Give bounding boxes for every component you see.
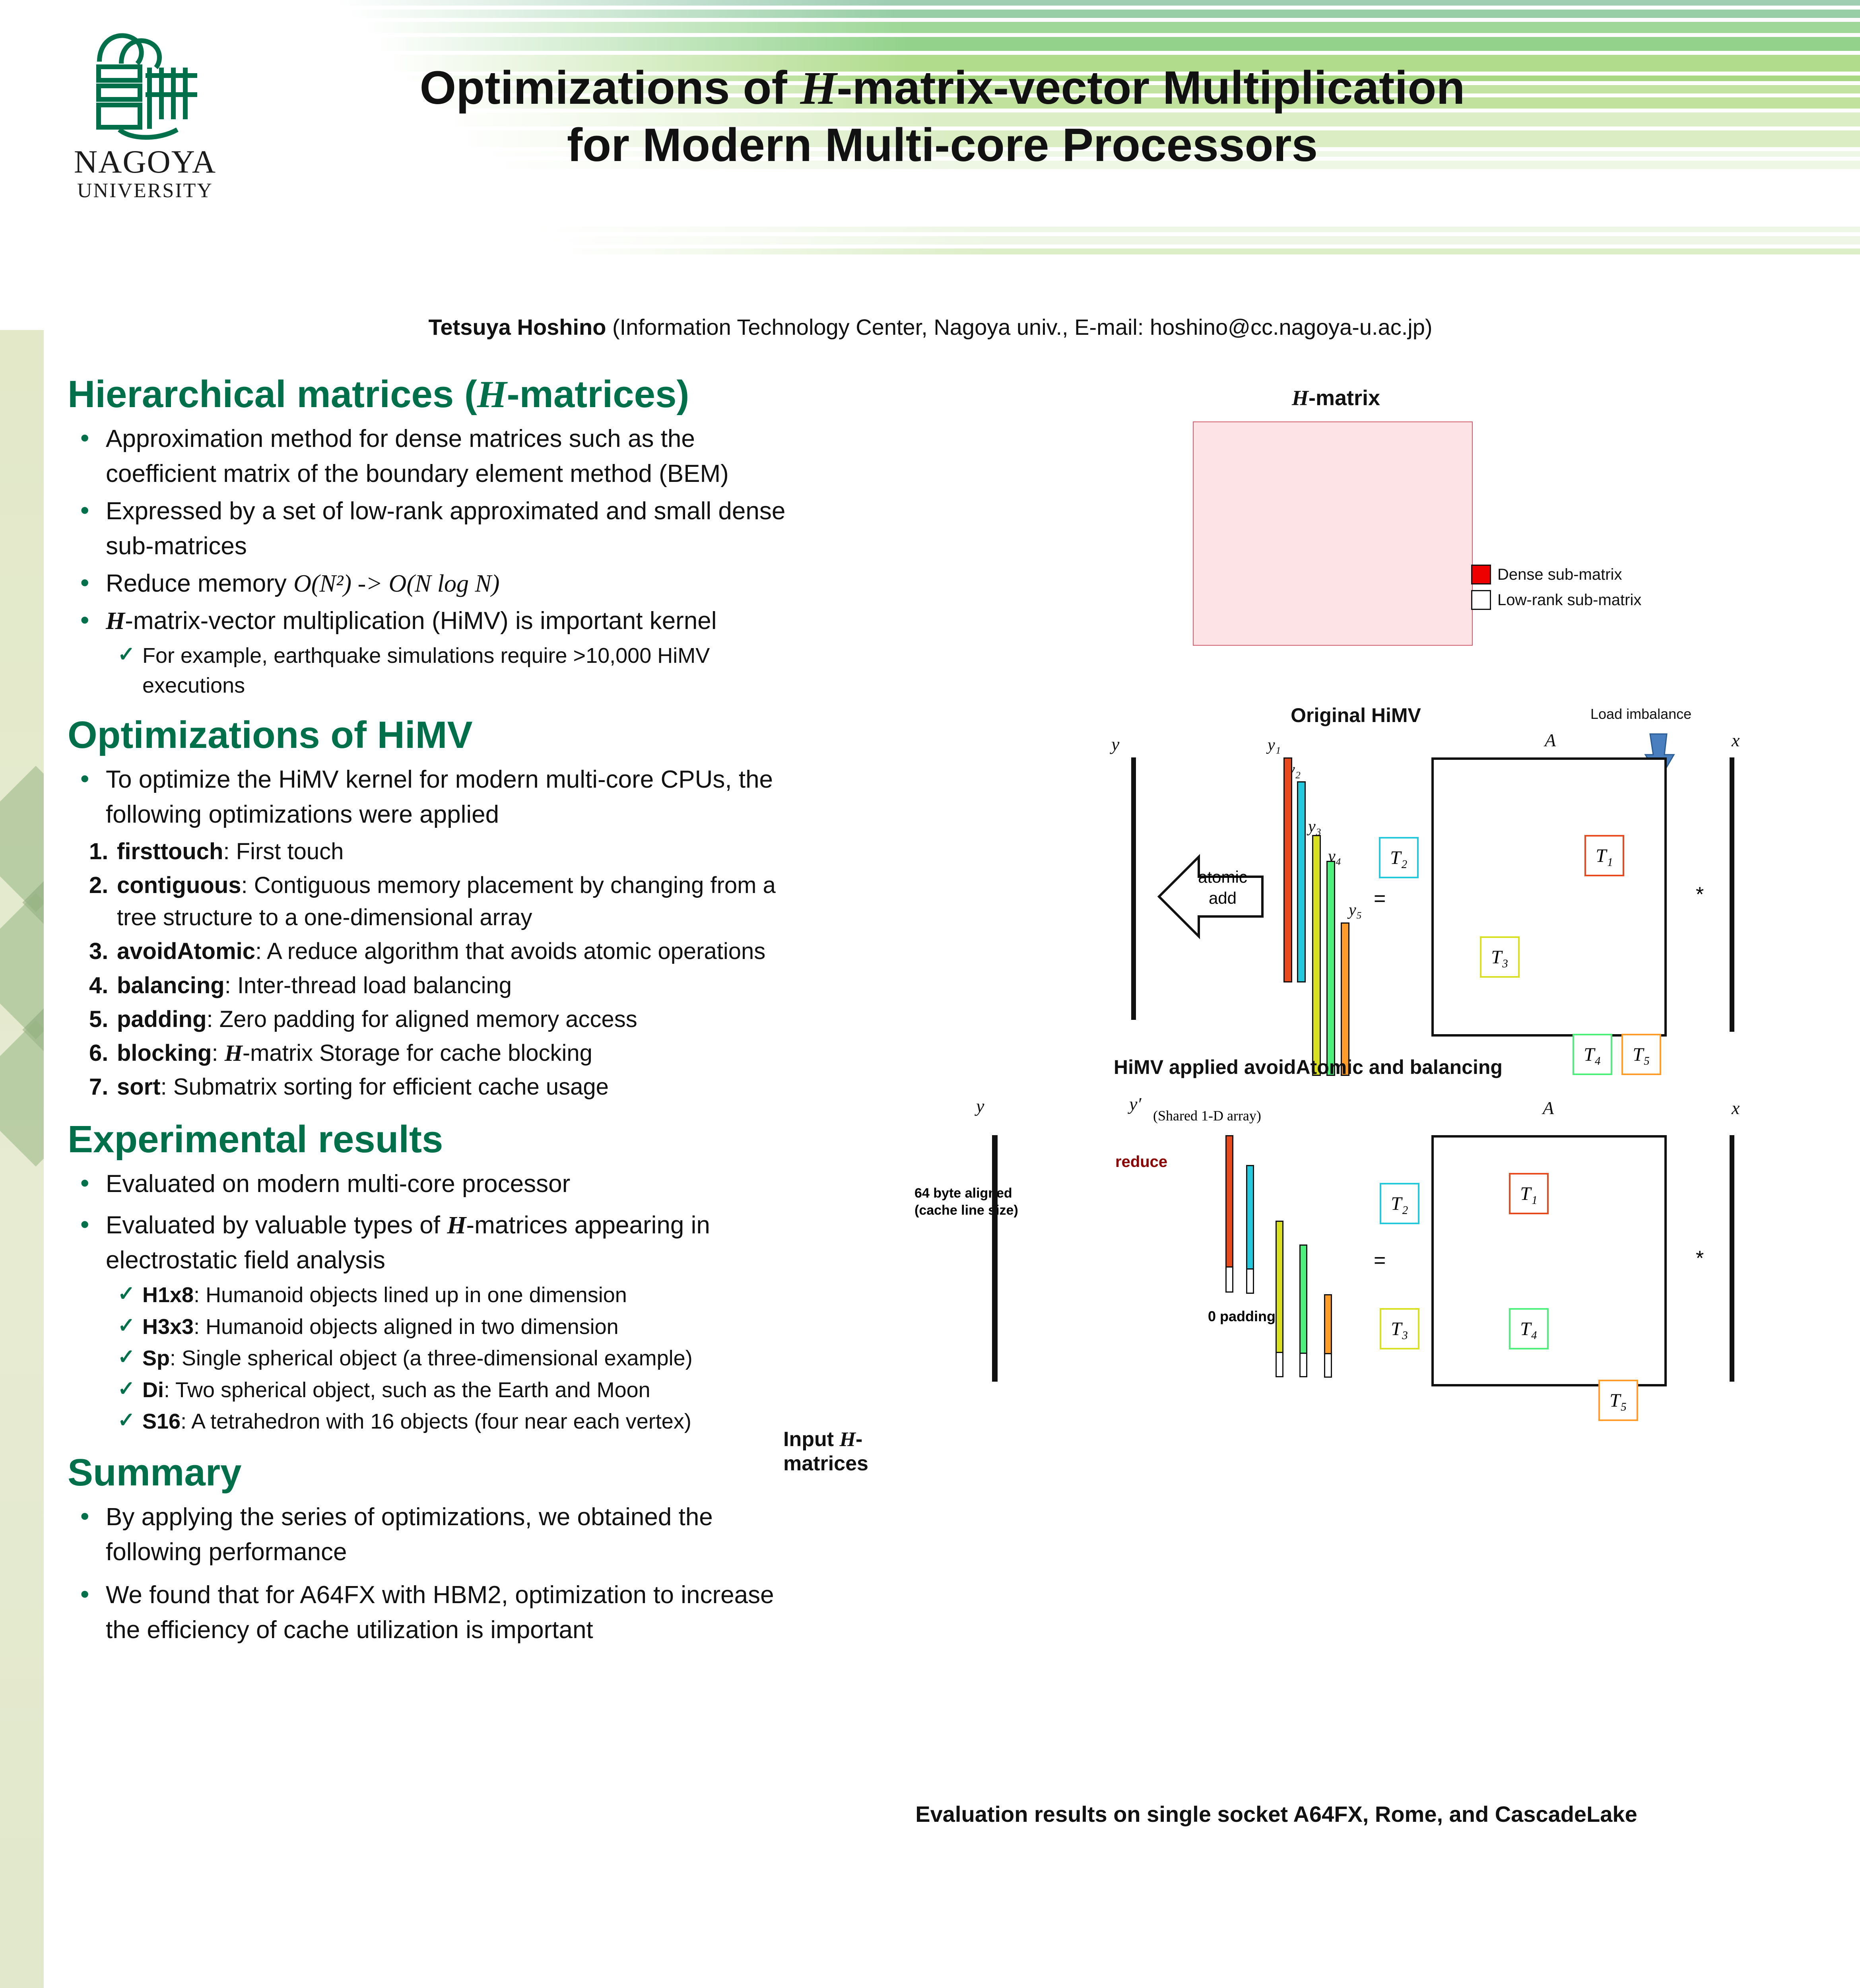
orig-thread-badge-T1: T₁ [1584,835,1624,876]
reduce-label: reduce [1115,1153,1167,1171]
opt-thread-badge-T1-inner: T₁ [1509,1173,1549,1214]
list-item: padding: Zero padding for aligned memory… [68,1003,787,1035]
opt-y-label: y [976,1095,984,1116]
optimizations-numbered-list: firsttouch: First touchcontiguous: Conti… [68,835,787,1103]
opt-thread-badge-T2: T₂ [1380,1183,1419,1224]
dense-swatch [1471,565,1491,584]
matrix-type-desc: : Single spherical object (a three-dimen… [170,1346,693,1370]
matrix-type-keyword: Sp [142,1346,170,1370]
list-item: H3x3: Humanoid objects aligned in two di… [106,1312,787,1342]
blocking-h-script: H [225,1040,243,1066]
orig-thread-badge-T5: T₅ [1621,1034,1661,1075]
title-line2: for Modern Multi-core Processors [567,119,1318,171]
section-heading-hmatrices: Hierarchical matrices (H-matrices) [68,374,787,415]
optimization-keyword: padding [117,1006,207,1032]
opt-yp5-pad [1324,1353,1332,1378]
orig-y4-bar [1326,861,1335,1076]
nagoya-logo-mark [83,24,215,143]
matrix-type-keyword: H3x3 [142,1315,194,1339]
title-line1-pre: Optimizations of [420,62,800,114]
orig-y3-label: y₃ [1308,817,1321,836]
list-item: Di: Two spherical object, such as the Ea… [106,1375,787,1406]
hmatrix-legend: Dense sub-matrix Low-rank sub-matrix [1471,565,1641,615]
orig-thread-badge-T2: T₂ [1379,837,1419,878]
matrix-type-keyword: S16 [142,1409,181,1433]
load-imbalance-label: Load imbalance [1590,706,1691,722]
optimization-desc: : Submatrix sorting for efficient cache … [161,1074,609,1100]
legend-row-dense: Dense sub-matrix [1471,565,1641,584]
opt-yp2-pad [1246,1268,1254,1294]
matrix-type-desc: : Humanoid objects aligned in two dimens… [194,1315,619,1339]
orig-thread-badge-T3: T₃ [1480,936,1520,978]
page-title: Optimizations of H-matrix-vector Multipl… [207,60,1678,174]
title-h-script: H [800,62,837,114]
opt-x-vector [1730,1135,1734,1382]
orig-y-vector [1131,757,1136,1020]
author-name: Tetsuya Hoshino [428,315,606,340]
list-item: firsttouch: First touch [68,835,787,868]
opt-yp1-bar [1225,1135,1233,1269]
orig-y5-bar [1341,922,1349,1076]
opt-shared-label: (Shared 1-D array) [1153,1107,1261,1124]
orig-y2-bar [1297,781,1306,982]
hmatrices-check-list: For example, earthquake simulations requ… [106,641,787,701]
orig-matrix-diagram [1431,757,1667,1037]
orig-x-vector [1730,757,1734,1032]
list-item: To optimize the HiMV kernel for modern m… [72,762,787,832]
list-item: S16: A tetrahedron with 16 objects (four… [106,1407,787,1437]
opt-yp4-bar [1299,1244,1307,1355]
hm-heading-post: -matrices) [507,373,689,415]
hmat-title-post: -matrix [1309,386,1380,410]
list-item: Expressed by a set of low-rank approxima… [72,494,787,564]
list-item: Approximation method for dense matrices … [72,421,787,491]
atomic-add-label: atomic add [1187,867,1258,909]
orig-star-sign: * [1696,883,1704,907]
list-item: For example, earthquake simulations requ… [106,641,787,701]
opt-yp5-bar [1324,1294,1332,1355]
charts-heading: Evaluation results on single socket A64F… [775,1801,1777,1827]
optimization-keyword: balancing [117,973,225,998]
orig-A-label: A [1545,730,1556,751]
list-item: avoidAtomic: A reduce algorithm that avo… [68,935,787,967]
list-item: Sp: Single spherical object (a three-dim… [106,1343,787,1374]
author-affiliation: (Information Technology Center, Nagoya u… [606,315,1432,340]
hmatrices-bullet-list: Approximation method for dense matrices … [72,421,787,701]
list-item: By applying the series of optimizations,… [72,1500,787,1570]
list-item: We found that for A64FX with HBM2, optim… [72,1578,787,1648]
optimizations-bullet-list: To optimize the HiMV kernel for modern m… [72,762,787,832]
opt-thread-badge-T3: T₃ [1380,1308,1419,1349]
orig-y1-bar [1283,757,1292,982]
matrix-type-keyword: Di [142,1378,164,1402]
orig-thread-badge-T4: T₄ [1573,1034,1612,1075]
orig-y5-label: y₅ [1349,901,1362,920]
reduce-math: O(N²) -> O(N log N) [293,570,500,597]
lowrank-swatch [1471,590,1491,610]
optimization-keyword: blocking [117,1040,212,1066]
list-item: Reduce memory O(N²) -> O(N log N) [72,566,787,601]
optimization-desc: : First touch [223,839,344,864]
opt-equals-sign: = [1374,1248,1386,1272]
hm-heading-pre: Hierarchical matrices ( [68,373,477,415]
opt-A-label: A [1543,1097,1554,1118]
matrix-type-desc: : A tetrahedron with 16 objects (four ne… [181,1409,691,1433]
matrix-type-keyword: H1x8 [142,1283,194,1307]
zero-padding-label: 0 padding [1208,1308,1276,1325]
opt-matrix-diagram [1431,1135,1667,1386]
list-item: sort: Submatrix sorting for efficient ca… [68,1071,787,1103]
hmatrix-diagram [1193,421,1473,646]
title-line1-post: -matrix-vector Multiplication [837,62,1465,114]
list-item: H-matrix-vector multiplication (HiMV) is… [72,604,787,701]
left-column: Hierarchical matrices (H-matrices) Appro… [68,374,787,1650]
orig-y1-label: y₁ [1268,736,1281,755]
section-heading-experimental: Experimental results [68,1119,787,1160]
original-himv-title: Original HiMV [1205,704,1507,727]
poster-canvas: NAGOYA UNIVERSITY Optimizations of H-mat… [0,0,1860,1988]
opt-x-label: x [1732,1097,1740,1118]
nagoya-university-logo: NAGOYA UNIVERSITY [60,24,231,211]
optimization-desc: -matrix Storage for cache blocking [243,1040,592,1066]
input-hmatrices-label: Input H-matrices [783,1427,914,1476]
opt-yp2-bar [1246,1165,1254,1271]
optimized-himv-title: HiMV applied avoidAtomic and balancing [1050,1056,1567,1079]
summary-bullet-list: By applying the series of optimizations,… [72,1500,787,1648]
opt-yp1-pad [1225,1266,1233,1293]
opt-y-vector [992,1135,998,1382]
list-item: balancing: Inter-thread load balancing [68,969,787,1002]
eval-pre: Evaluated by valuable types of [106,1211,447,1239]
logo-university-text: UNIVERSITY [60,179,231,202]
optimization-desc: : A reduce algorithm that avoids atomic … [255,938,765,964]
optimization-keyword: avoidAtomic [117,938,255,964]
opt-thread-badge-T4-inner: T₄ [1509,1308,1549,1349]
opt-thread-badge-T5: T₅ [1598,1380,1638,1421]
matrix-types-list: H1x8: Humanoid objects lined up in one d… [106,1280,787,1437]
eval-h-script: H [447,1212,466,1239]
reduce-pre: Reduce memory [106,570,293,597]
hmatrix-figure-title: H-matrix [1185,386,1487,410]
matrix-type-desc: : Humanoid objects lined up in one dimen… [194,1283,627,1307]
opt-yprime-label: y′ [1129,1093,1141,1114]
aligned-note-label: 64 byte aligned (cache line size) [914,1185,1046,1219]
author-line: Tetsuya Hoshino (Information Technology … [223,314,1638,340]
optimization-desc: : Inter-thread load balancing [225,973,512,998]
opt-yp3-pad [1276,1352,1283,1377]
legend-lowrank-label: Low-rank sub-matrix [1497,591,1641,609]
matrix-type-desc: : Two spherical object, such as the Eart… [164,1378,650,1402]
hm-heading-h: H [477,373,507,415]
legend-dense-label: Dense sub-matrix [1497,566,1622,584]
opt-yp4-pad [1299,1353,1307,1377]
section-heading-summary: Summary [68,1452,787,1493]
list-item: contiguous: Contiguous memory placement … [68,869,787,934]
himv-text: -matrix-vector multiplication (HiMV) is … [125,607,716,635]
list-item: Evaluated on modern multi-core processor [72,1167,787,1202]
orig-y-label: y [1111,734,1119,755]
orig-x-label: x [1732,730,1740,751]
orig-y3-bar [1312,835,1321,1076]
experimental-bullet-list: Evaluated on modern multi-core processor… [72,1167,787,1437]
section-heading-optimizations: Optimizations of HiMV [68,714,787,756]
optimization-keyword: sort [117,1074,161,1100]
himv-h-script: H [106,608,125,635]
list-item: Evaluated by valuable types of H-matrice… [72,1208,787,1437]
orig-equals-sign: = [1374,887,1386,911]
opt-star-sign: * [1696,1246,1704,1270]
list-item: blocking: H-matrix Storage for cache blo… [68,1037,787,1069]
optimization-keyword: contiguous [117,872,241,898]
opt-yp3-bar [1276,1221,1283,1354]
optimization-keyword: firsttouch [117,839,223,864]
optimization-desc: : Zero padding for aligned memory access [207,1006,637,1032]
hmat-title-h: H [1292,386,1309,410]
logo-nagoya-text: NAGOYA [60,143,231,181]
legend-row-lowrank: Low-rank sub-matrix [1471,590,1641,610]
list-item: H1x8: Humanoid objects lined up in one d… [106,1280,787,1310]
